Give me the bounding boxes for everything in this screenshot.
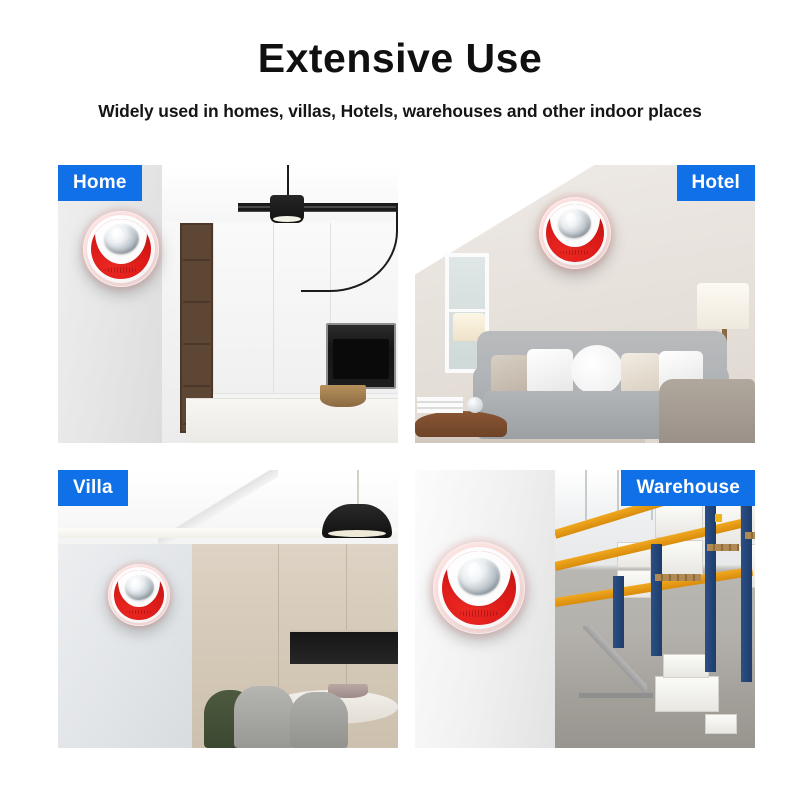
scene-panel-villa[interactable]: Villa — [58, 470, 398, 748]
badge-home[interactable]: Home — [58, 165, 142, 201]
alarm-siren-device — [539, 197, 611, 269]
alarm-siren-device — [83, 211, 159, 287]
page-header: Extensive Use Widely used in homes, vill… — [0, 34, 800, 124]
alarm-siren-device — [433, 542, 525, 634]
scene-panel-warehouse[interactable]: Warehouse — [415, 470, 755, 748]
badge-hotel[interactable]: Hotel — [677, 165, 756, 201]
page-title: Extensive Use — [0, 34, 800, 82]
product-feature-page: Extensive Use Widely used in homes, vill… — [0, 0, 800, 800]
scene-grid: Home — [58, 165, 755, 748]
villa-dining-scene-image — [58, 470, 398, 748]
badge-villa[interactable]: Villa — [58, 470, 128, 506]
page-subtitle: Widely used in homes, villas, Hotels, wa… — [0, 98, 800, 124]
scene-panel-hotel[interactable]: Hotel — [415, 165, 755, 443]
badge-warehouse[interactable]: Warehouse — [621, 470, 755, 506]
alarm-siren-device — [108, 564, 170, 626]
scene-panel-home[interactable]: Home — [58, 165, 398, 443]
kitchen-scene-image — [58, 165, 398, 443]
